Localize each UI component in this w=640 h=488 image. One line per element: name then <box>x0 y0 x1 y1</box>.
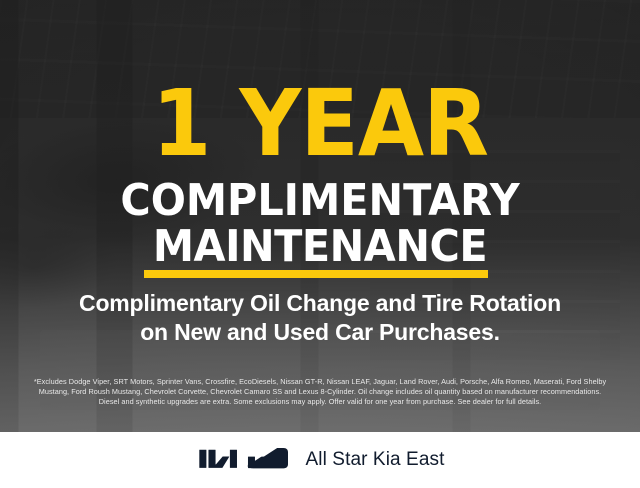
offer-description: Complimentary Oil Change and Tire Rotati… <box>0 289 640 347</box>
headline-year: 1 YEAR <box>22 78 617 170</box>
headline-subtitle-line1: COMPLIMENTARY <box>120 175 519 226</box>
offer-description-line2: on New and Used Car Purchases. <box>0 318 640 347</box>
footer-brand-bar: All Star Kia East <box>0 432 640 488</box>
offer-description-line1: Complimentary Oil Change and Tire Rotati… <box>0 289 640 318</box>
disclaimer-line-1: *Excludes Dodge Viper, SRT Motors, Sprin… <box>14 377 626 387</box>
hero-copy: 1 YEAR COMPLIMENTARY MAINTENANCE Complim… <box>0 0 640 488</box>
headline-subtitle-line2: MAINTENANCE <box>19 224 621 270</box>
headline-subtitle: COMPLIMENTARY MAINTENANCE <box>19 178 621 270</box>
promo-banner: 1 YEAR COMPLIMENTARY MAINTENANCE Complim… <box>0 0 640 488</box>
dealer-name-label: All Star Kia East <box>306 449 445 471</box>
yellow-divider-bar <box>144 270 488 278</box>
disclaimer-line-2: Mustang, Ford Roush Mustang, Chevrolet C… <box>14 387 626 397</box>
disclaimer-line-3: Diesel and synthetic upgrades are extra.… <box>14 397 626 407</box>
disclaimer-text: *Excludes Dodge Viper, SRT Motors, Sprin… <box>14 377 626 407</box>
kia-logo-icon <box>196 448 288 472</box>
